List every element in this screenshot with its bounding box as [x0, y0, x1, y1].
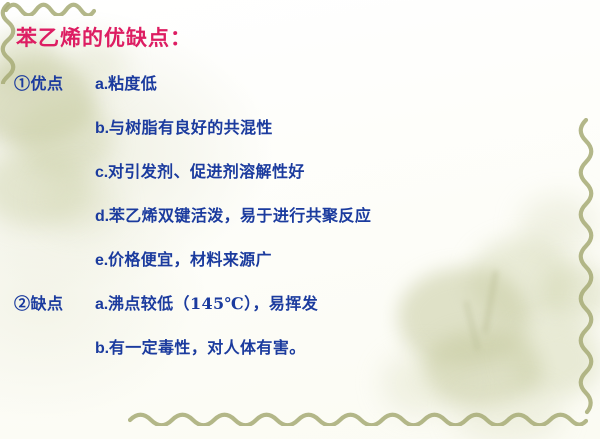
item-text: 苯乙烯双键活泼，易于进行共聚反应: [109, 206, 371, 225]
item-label: e.: [95, 252, 108, 269]
item-label: a.: [95, 76, 108, 93]
item-label: b.: [95, 120, 109, 137]
list-item: b.与树脂有良好的共混性: [0, 114, 600, 158]
advantage-item-b: b.与树脂有良好的共混性: [95, 114, 273, 138]
item-text: 价格便宜，材料来源广: [108, 250, 272, 269]
list-item: ②缺点 a.沸点较低（145℃），易挥发: [0, 290, 600, 334]
list-item: d.苯乙烯双键活泼，易于进行共聚反应: [0, 202, 600, 246]
list-item: b.有一定毒性，对人体有害。: [0, 334, 600, 378]
page-title: 苯乙烯的优缺点：: [16, 22, 192, 52]
item-text: 有一定毒性，对人体有害。: [109, 338, 306, 357]
bottom-wavy-border-icon: [128, 412, 588, 426]
item-label: b.: [95, 340, 109, 357]
section-marker-disadvantages: ②缺点: [14, 290, 64, 314]
top-wavy-border-icon: [4, 2, 96, 16]
list-item: ①优点 a.粘度低: [0, 70, 600, 114]
list-item: c.对引发剂、促进剂溶解性好: [0, 158, 600, 202]
advantage-item-a: a.粘度低: [95, 70, 157, 94]
item-text: 粘度低: [108, 74, 157, 93]
section-marker-advantages: ①优点: [14, 70, 64, 94]
item-text: 沸点较低（145℃），易挥发: [108, 294, 318, 313]
item-label: c.: [95, 164, 108, 181]
disadvantage-item-b: b.有一定毒性，对人体有害。: [95, 334, 306, 358]
advantage-item-e: e.价格便宜，材料来源广: [95, 246, 272, 270]
advantage-item-d: d.苯乙烯双键活泼，易于进行共聚反应: [95, 202, 371, 226]
content-list: ①优点 a.粘度低 b.与树脂有良好的共混性 c.对引发剂、促进剂溶解性好 d.…: [0, 70, 600, 378]
item-text: 对引发剂、促进剂溶解性好: [108, 162, 305, 181]
item-label: d.: [95, 208, 109, 225]
item-text: 与树脂有良好的共混性: [109, 118, 273, 137]
disadvantage-item-a: a.沸点较低（145℃），易挥发: [95, 290, 318, 314]
slide-canvas: 苯乙烯的优缺点： ①优点 a.粘度低 b.与树脂有良好的共混性 c.对引发剂、促…: [0, 0, 600, 439]
watermark-leaf: [452, 388, 562, 439]
advantage-item-c: c.对引发剂、促进剂溶解性好: [95, 158, 305, 182]
list-item: e.价格便宜，材料来源广: [0, 246, 600, 290]
item-label: a.: [95, 296, 108, 313]
